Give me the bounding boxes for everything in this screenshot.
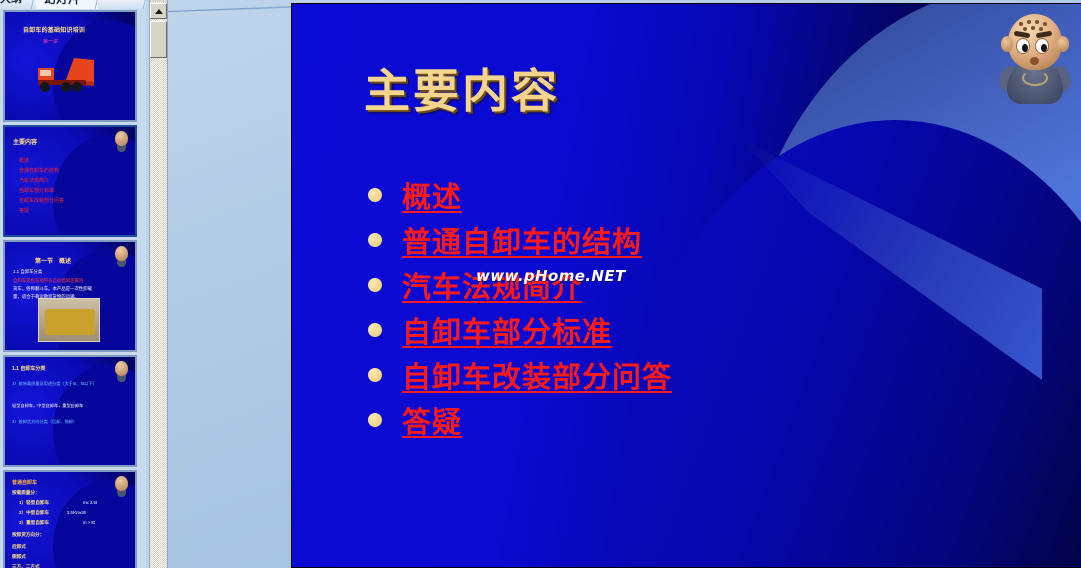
scrollbar-up-button[interactable]: [150, 3, 167, 19]
bullet-item-1[interactable]: 概述: [368, 172, 1028, 217]
slide-workspace: 主要内容 概述 普通自卸车的结构 汽车法规简介 自卸车部分标准: [167, 0, 1081, 568]
bullet-dot-icon: [368, 188, 382, 202]
monk-icon: [115, 246, 128, 261]
thumb2-line-1: 概述: [19, 157, 29, 164]
monk-cartoon-icon: [998, 12, 1072, 104]
thumb5-line-1: 按载质量分：: [12, 490, 40, 496]
thumb2-line-4: 自卸车部分标准: [19, 187, 54, 194]
thumb4-line-1: 1）按装载质量及用途分类（大于5t、5t以下）: [12, 381, 97, 387]
thumb5-value-2: 3.5t<m≤8t: [67, 510, 86, 515]
thumb2-title: 主要内容: [13, 137, 37, 146]
bullet-dot-icon: [368, 413, 382, 427]
slide-bullet-list[interactable]: 概述 普通自卸车的结构 汽车法规简介 自卸车部分标准 自卸车改装部分问答: [368, 172, 1028, 442]
slide-thumbnail-3[interactable]: 第一节 概述 1.1 自卸车分类 自卸车是指车厢带有自动倡卸装置的 货车，俗称翻…: [3, 240, 137, 352]
bullet-item-6[interactable]: 答疑: [368, 397, 1028, 442]
thumb4-line-2: 轻型自卸车，中型自卸车，重型自卸车: [12, 403, 83, 409]
thumb4-title: 1.1 自卸车分类: [12, 365, 45, 372]
bullet-label-4[interactable]: 自卸车部分标准: [402, 309, 612, 351]
scrollbar-thumb[interactable]: [150, 21, 167, 58]
bullet-label-2[interactable]: 普通自卸车的结构: [402, 219, 642, 261]
monk-mouth: [1030, 57, 1039, 65]
thumb5-line-7: 侧卸式: [12, 554, 26, 560]
tab-filler-shape: [96, 0, 146, 9]
yellow-dump-truck-icon: [45, 309, 95, 335]
thumb2-line-5: 自卸车改装部分问答: [19, 197, 64, 204]
bullet-label-6[interactable]: 答疑: [402, 399, 462, 441]
thumb1-subtitle: 第一讲: [43, 38, 58, 45]
slide-thumbnail-5[interactable]: 普通自卸车 按载质量分： 1）轻型自卸车 2）中型自卸车 3）重型自卸车 m≤ …: [3, 470, 137, 568]
scrollbar-top-cap: [150, 0, 167, 2]
monk-ear-left: [1001, 36, 1013, 52]
slides-pane: 大纲 幻灯片 自卸车的基础知识培训 第一讲: [0, 0, 146, 568]
bullet-item-4[interactable]: 自卸车部分标准: [368, 307, 1028, 352]
monk-head-dots: [1017, 20, 1051, 30]
slide-canvas[interactable]: 主要内容 概述 普通自卸车的结构 汽车法规简介 自卸车部分标准: [291, 3, 1081, 568]
bullet-dot-icon: [368, 323, 382, 337]
bullet-label-1[interactable]: 概述: [402, 174, 462, 216]
thumb3-photo: [38, 298, 100, 342]
thumb3-line-1: 1.1 自卸车分类: [13, 269, 42, 275]
bullet-dot-icon: [368, 278, 382, 292]
thumb3-line-3: 货车，俗称翻斗车。本产品是一次性卸载: [13, 286, 92, 292]
thumb5-line-5: 按卸货方向分：: [12, 532, 44, 538]
thumb2-line-2: 普通自卸车的结构: [19, 167, 59, 174]
thumb5-line-6: 后卸式: [12, 544, 26, 550]
monk-icon: [115, 476, 128, 491]
tab-slides[interactable]: 幻灯片: [36, 0, 98, 9]
thumb2-line-6: 答疑: [19, 207, 29, 214]
thumb5-line-4: 3）重型自卸车: [19, 520, 49, 526]
bullet-dot-icon: [368, 233, 382, 247]
triangle-up-icon: [155, 9, 163, 14]
pane-tab-strip: 大纲 幻灯片: [0, 0, 146, 9]
thumb5-title: 普通自卸车: [12, 479, 37, 486]
slide-thumbnail-2[interactable]: 主要内容 概述 普通自卸车的结构 汽车法规简介 自卸车部分标准 自卸车改装部分问…: [3, 125, 137, 237]
slide-thumbnail-4[interactable]: 1.1 自卸车分类 1）按装载质量及用途分类（大于5t、5t以下） 轻型自卸车，…: [3, 355, 137, 467]
thumb5-value-3: m > 8t: [83, 520, 95, 525]
thumb3-line-2: 自卸车是指车厢带有自动倡卸装置的: [13, 278, 83, 284]
slide-title[interactable]: 主要内容: [364, 66, 560, 117]
tab-strip-filler: [98, 0, 146, 9]
thumb5-line-8: 三方、二方式: [12, 564, 40, 568]
monk-ear-right: [1057, 36, 1069, 52]
thumb5-value-1: m≤ 3.5t: [83, 500, 97, 505]
bullet-item-5[interactable]: 自卸车改装部分问答: [368, 352, 1028, 397]
thumb5-line-3: 2）中型自卸车: [19, 510, 49, 516]
tab-slides-label: 幻灯片: [44, 0, 80, 9]
workspace-accent-line: [168, 6, 292, 12]
thumb2-line-3: 汽车法规简介: [19, 177, 49, 184]
red-dump-truck-icon: [30, 50, 106, 96]
monk-eye-left: [1016, 38, 1030, 54]
thumb5-line-2: 1）轻型自卸车: [19, 500, 49, 506]
bullet-label-5[interactable]: 自卸车改装部分问答: [402, 354, 672, 396]
thumbnail-scrollbar[interactable]: [149, 0, 167, 568]
bullet-item-2[interactable]: 普通自卸车的结构: [368, 217, 1028, 262]
monk-icon: [115, 131, 128, 146]
slide-thumbnail-1[interactable]: 自卸车的基础知识培训 第一讲: [3, 10, 137, 122]
slide-thumbnail-list[interactable]: 自卸车的基础知识培训 第一讲 主要内容: [0, 9, 146, 568]
thumb4-line-3: 2）按卸货方向分类（后卸、侧卸）: [12, 419, 77, 425]
tab-outline-label: 大纲: [0, 0, 22, 9]
monk-eye-right: [1035, 38, 1049, 54]
bullet-item-3[interactable]: 汽车法规简介: [368, 262, 1028, 307]
bullet-dot-icon: [368, 368, 382, 382]
monk-prayer-beads: [1022, 70, 1048, 86]
thumb1-title: 自卸车的基础知识培训: [23, 25, 85, 34]
thumb3-title: 第一节 概述: [35, 256, 71, 265]
tab-outline[interactable]: 大纲: [0, 0, 34, 9]
monk-icon: [115, 361, 128, 376]
watermark-text: www.pHome.NET: [476, 267, 626, 285]
presentation-window: 大纲 幻灯片 自卸车的基础知识培训 第一讲: [0, 0, 1081, 568]
